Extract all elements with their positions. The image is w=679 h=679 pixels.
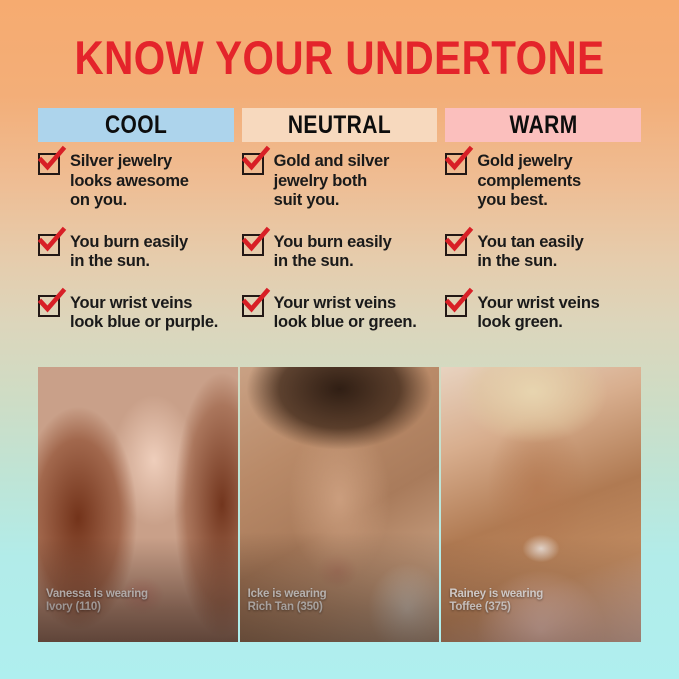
page-title: KNOW YOUR UNDERTONE — [48, 33, 632, 83]
model-photo-rainey: Rainey is wearing Toffee (375) — [441, 367, 641, 642]
checklist-item: Gold jewelry complements you best. — [445, 152, 641, 211]
checklist-item: You burn easily in the sun. — [38, 233, 234, 272]
undertone-checklist-columns: Silver jewelry looks awesome on you. You… — [38, 152, 641, 352]
column-header-warm-label: WARM — [509, 111, 577, 140]
model-photo-vanessa: Vanessa is wearing Ivory (110) — [38, 367, 238, 642]
model-photo-row: Vanessa is wearing Ivory (110) Icke is w… — [38, 367, 641, 642]
checklist-item-label: Your wrist veins look blue or purple. — [70, 294, 218, 333]
checklist-item-label: You burn easily in the sun. — [70, 233, 188, 272]
column-header-cool: COOL — [38, 108, 234, 142]
checklist-item: Your wrist veins look blue or green. — [242, 294, 438, 333]
photo-caption: Vanessa is wearing Ivory (110) — [46, 588, 148, 614]
checklist-item: Gold and silver jewelry both suit you. — [242, 152, 438, 211]
checkbox-checked-icon — [242, 234, 264, 256]
checkbox-checked-icon — [38, 295, 60, 317]
checkbox-checked-icon — [445, 153, 467, 175]
checkbox-checked-icon — [38, 234, 60, 256]
checklist-column-cool: Silver jewelry looks awesome on you. You… — [38, 152, 234, 352]
checklist-item-label: Gold and silver jewelry both suit you. — [274, 152, 389, 211]
checklist-item: You burn easily in the sun. — [242, 233, 438, 272]
column-header-neutral: NEUTRAL — [242, 108, 438, 142]
checklist-column-neutral: Gold and silver jewelry both suit you. Y… — [242, 152, 438, 352]
photo-caption: Icke is wearing Rich Tan (350) — [248, 588, 327, 614]
column-header-warm: WARM — [445, 108, 641, 142]
checklist-item-label: You burn easily in the sun. — [274, 233, 392, 272]
checklist-item-label: Your wrist veins look green. — [477, 294, 599, 333]
checklist-item: Silver jewelry looks awesome on you. — [38, 152, 234, 211]
checklist-item-label: Gold jewelry complements you best. — [477, 152, 581, 211]
checklist-item-label: Silver jewelry looks awesome on you. — [70, 152, 189, 211]
infographic-page: KNOW YOUR UNDERTONE COOL NEUTRAL WARM Si… — [0, 0, 679, 679]
undertone-header-row: COOL NEUTRAL WARM — [38, 108, 641, 142]
checklist-item-label: Your wrist veins look blue or green. — [274, 294, 417, 333]
checkbox-checked-icon — [242, 153, 264, 175]
checkbox-checked-icon — [445, 234, 467, 256]
checklist-item: You tan easily in the sun. — [445, 233, 641, 272]
photo-caption: Rainey is wearing Toffee (375) — [449, 588, 543, 614]
checkbox-checked-icon — [445, 295, 467, 317]
checklist-item: Your wrist veins look green. — [445, 294, 641, 333]
checklist-column-warm: Gold jewelry complements you best. You t… — [445, 152, 641, 352]
checkbox-checked-icon — [38, 153, 60, 175]
column-header-cool-label: COOL — [105, 111, 167, 140]
checklist-item-label: You tan easily in the sun. — [477, 233, 583, 272]
model-photo-icke: Icke is wearing Rich Tan (350) — [240, 367, 440, 642]
checklist-item: Your wrist veins look blue or purple. — [38, 294, 234, 333]
column-header-neutral-label: NEUTRAL — [288, 111, 391, 140]
checkbox-checked-icon — [242, 295, 264, 317]
